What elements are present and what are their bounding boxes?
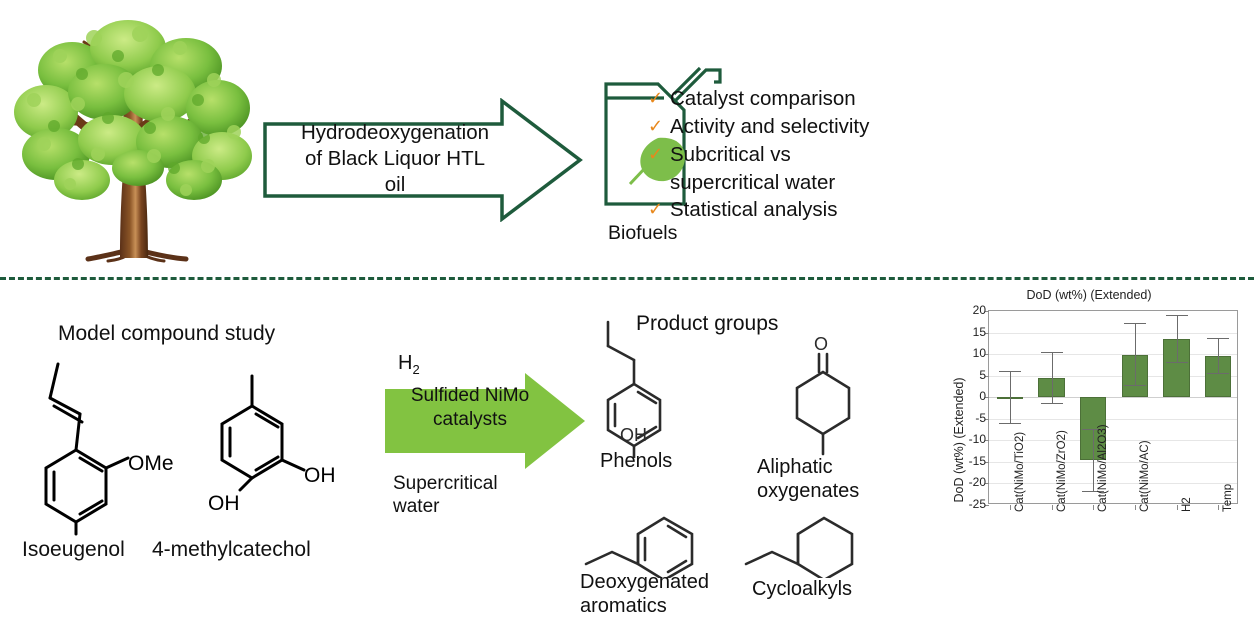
hydrodeoxygenation-arrow: Hydrodeoxygenation of Black Liquor HTL o… — [262, 98, 584, 222]
chart-y-tick-label: -20 — [936, 477, 986, 487]
sulfided-nimo-catalyst-arrow-label: Sulfided NiMo catalysts — [390, 384, 550, 432]
chart-x-tick-mark — [1093, 505, 1094, 510]
checklist-item-label: Statistical analysis — [670, 196, 837, 223]
chart-x-tick-mark — [1135, 505, 1136, 510]
svg-text:OH: OH — [304, 464, 336, 487]
cycloalkyls-structure — [742, 508, 882, 578]
chart-gridline — [989, 397, 1237, 398]
isoeugenol-structure: OMe OH — [28, 358, 208, 538]
check-icon: ✓ — [648, 196, 670, 223]
chart-error-bar — [1093, 429, 1094, 491]
methylcatechol-label: 4-methylcatechol — [152, 538, 311, 562]
aliphatic-oxygenates-structure: O — [775, 328, 895, 458]
hydrodeoxygenation-arrow-label: Hydrodeoxygenation of Black Liquor HTL o… — [280, 120, 510, 198]
chart-gridline — [989, 333, 1237, 334]
chart-y-tick-label: -10 — [936, 434, 986, 444]
tree-illustration — [8, 8, 260, 263]
phenols-oh-label: OH — [620, 425, 647, 446]
biofuels-label: Biofuels — [608, 222, 677, 245]
checklist-item-label: Subcritical vs — [670, 141, 791, 168]
chart-gridline — [989, 419, 1237, 420]
chart-x-tick-mark — [1010, 505, 1011, 510]
hdo-line-3: oil — [280, 172, 510, 198]
section-divider — [0, 277, 1254, 280]
aliphatic-line-1: Aliphatic — [757, 455, 859, 479]
arrow-line-1: Sulfided NiMo — [390, 384, 550, 408]
chart-x-tick-label: Cat(NiMo/AC) — [1139, 440, 1151, 512]
aliphatic-oxygenates-label: Aliphatic oxygenates — [757, 455, 859, 503]
supercritical-water-label: Supercritical water — [393, 472, 498, 518]
scw-line-2: water — [393, 495, 498, 518]
chart-x-tick-label: H2 — [1181, 497, 1193, 512]
chart-error-bar — [1218, 338, 1219, 373]
checklist-item-0: ✓ Catalyst comparison — [648, 85, 1048, 112]
chart-y-tick-label: 20 — [936, 305, 986, 315]
checklist-item-3: ✓ Statistical analysis — [648, 196, 1048, 223]
chart-error-cap — [999, 371, 1021, 372]
chart-y-tick-label: 10 — [936, 348, 986, 358]
checklist-item-label: Catalyst comparison — [670, 85, 856, 112]
chart-gridline — [989, 462, 1237, 463]
checklist-item-label: Activity and selectivity — [670, 113, 869, 140]
chart-error-cap — [999, 423, 1021, 424]
chart-error-cap — [1207, 338, 1229, 339]
svg-text:OMe: OMe — [128, 452, 174, 475]
check-icon: ✓ — [648, 141, 670, 168]
chart-y-tick-label: 5 — [936, 370, 986, 380]
chart-x-tick-mark — [1218, 505, 1219, 510]
hdo-line-1: Hydrodeoxygenation — [280, 120, 510, 146]
deoxygenated-aromatics-structure — [582, 508, 722, 578]
hdo-line-2: of Black Liquor HTL — [280, 146, 510, 172]
chart-error-bar — [1177, 315, 1178, 362]
checklist-item-2: ✓ Subcritical vs — [648, 141, 1048, 168]
check-icon: ✓ — [648, 113, 670, 140]
chart-error-bar — [1010, 371, 1011, 423]
deoxy-line-2: aromatics — [580, 594, 709, 618]
chart-error-cap — [1166, 315, 1188, 316]
chart-x-tick-label: Cat(NiMo/ZrO2) — [1056, 430, 1068, 512]
chart-error-cap — [1124, 385, 1146, 386]
cycloalkyls-label: Cycloalkyls — [752, 578, 852, 601]
chart-y-tick-label: -15 — [936, 456, 986, 466]
model-compound-study-title: Model compound study — [58, 322, 275, 346]
highlights-checklist: ✓ Catalyst comparison ✓ Activity and sel… — [648, 85, 1048, 224]
chart-error-bar — [1135, 323, 1136, 385]
chart-y-tick-label: -5 — [936, 413, 986, 423]
chart-error-bar — [1052, 352, 1053, 404]
arrow-line-2: catalysts — [390, 408, 550, 432]
chart-error-cap — [1166, 362, 1188, 363]
checklist-item-2-continuation: supercritical water — [648, 169, 1048, 196]
deoxy-line-1: Deoxygenated — [580, 570, 709, 594]
svg-text:O: O — [814, 334, 828, 354]
dod-bar-chart: DoD (wt%) (Extended) DoD (wt%) (Extended… — [930, 288, 1248, 620]
chart-error-cap — [1207, 373, 1229, 374]
chart-gridline — [989, 376, 1237, 377]
scw-line-1: Supercritical — [393, 472, 498, 495]
chart-x-tick-mark — [1177, 505, 1178, 510]
chart-x-tick-label: Temp — [1222, 484, 1234, 512]
chart-error-cap — [1124, 323, 1146, 324]
chart-y-tick-label: 15 — [936, 327, 986, 337]
chart-gridline — [989, 354, 1237, 355]
aliphatic-line-2: oxygenates — [757, 479, 859, 503]
chart-error-cap — [1041, 352, 1063, 353]
phenols-structure — [592, 318, 712, 458]
svg-text:OH: OH — [208, 492, 240, 515]
isoeugenol-label: Isoeugenol — [22, 538, 125, 562]
chart-error-cap — [1041, 403, 1063, 404]
chart-y-tick-label: -25 — [936, 499, 986, 509]
methylcatechol-structure: OH OH — [190, 358, 370, 538]
chart-title: DoD (wt%) (Extended) — [930, 288, 1248, 302]
chart-y-tick-label: 0 — [936, 391, 986, 401]
chart-x-tick-label: Cat(NiMo/Al2O3) — [1097, 424, 1109, 512]
chart-x-tick-mark — [1052, 505, 1053, 510]
chart-x-tick-label: Cat(NiMo/TiO2) — [1014, 432, 1026, 512]
h2-symbol: H — [398, 352, 412, 374]
checklist-item-1: ✓ Activity and selectivity — [648, 113, 1048, 140]
deoxygenated-aromatics-label: Deoxygenated aromatics — [580, 570, 709, 618]
chart-gridline — [989, 440, 1237, 441]
check-icon: ✓ — [648, 85, 670, 112]
chart-gridline — [989, 483, 1237, 484]
phenols-label: Phenols — [600, 450, 672, 473]
